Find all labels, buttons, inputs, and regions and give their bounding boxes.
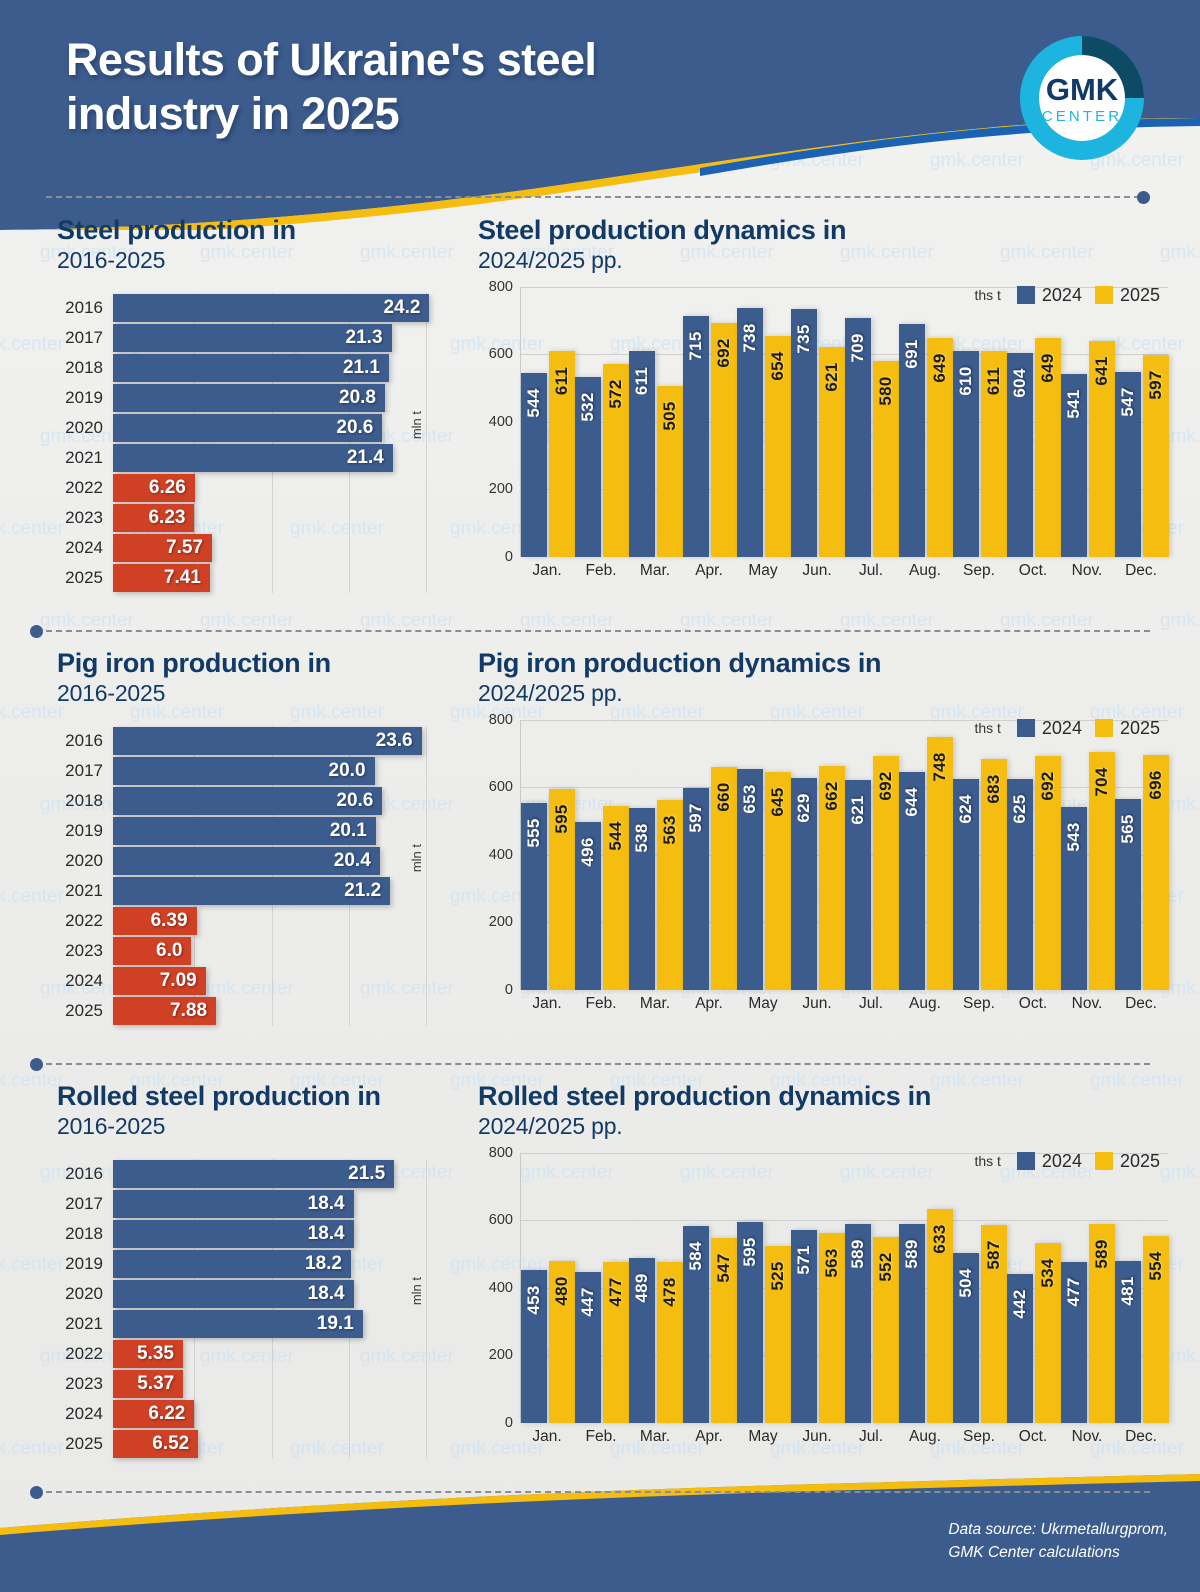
watermark-text: gmk.center — [0, 334, 64, 356]
bar-2025[interactable]: 704 — [1089, 752, 1115, 990]
hbar-row: 20226.39 — [57, 906, 447, 936]
hbar-track: 21.3 — [113, 323, 447, 353]
x-axis-tick: Jan. — [520, 562, 574, 580]
hbar-track: 7.41 — [113, 563, 447, 593]
hbar-year-label: 2018 — [57, 791, 113, 811]
bar-group-Oct: 604649 — [1007, 287, 1061, 557]
y-axis-tick: 600 — [479, 1212, 517, 1228]
y-axis-tick: 400 — [479, 1280, 517, 1296]
chart-legend: ths t20242025 — [974, 718, 1160, 739]
hbar-bar[interactable]: 21.5 — [113, 1160, 394, 1188]
bar-2025[interactable]: 552 — [873, 1237, 899, 1423]
hbar-year-label: 2020 — [57, 851, 113, 871]
y-axis-tick: 200 — [479, 481, 517, 497]
legend-label: 2024 — [1042, 285, 1082, 306]
bar-2024[interactable]: 541 — [1061, 374, 1087, 557]
x-axis-tick: May — [736, 562, 790, 580]
bar-2025[interactable]: 547 — [711, 1238, 737, 1423]
bar-2025[interactable]: 563 — [819, 1233, 845, 1423]
bar-2025[interactable]: 534 — [1035, 1243, 1061, 1423]
hbar-year-label: 2020 — [57, 418, 113, 438]
hbar-value-label: 21.4 — [347, 447, 384, 469]
hbar-row: 201818.4 — [57, 1219, 452, 1249]
bar-2024[interactable]: 597 — [683, 788, 709, 989]
hbar-bar[interactable]: 18.4 — [113, 1280, 354, 1308]
hbar-track: 18.2 — [113, 1249, 452, 1279]
hbar-year-label: 2016 — [57, 298, 113, 318]
hbar-year-label: 2025 — [57, 1001, 113, 1021]
bar-2024[interactable]: 544 — [521, 373, 547, 557]
x-axis-tick: Feb. — [574, 1428, 628, 1446]
bar-value-label: 447 — [578, 1287, 598, 1316]
hbar-bar[interactable]: 7.09 — [113, 967, 206, 995]
bar-group-Sep: 610611 — [953, 287, 1007, 557]
bar-groups: 4534804474774894785845475955255715635895… — [521, 1153, 1168, 1423]
bar-value-label: 496 — [578, 838, 598, 867]
hbar-bar[interactable]: 20.0 — [113, 757, 375, 785]
bar-2024[interactable]: 735 — [791, 309, 817, 557]
y-axis-tick: 800 — [479, 279, 517, 295]
bar-value-label: 477 — [606, 1277, 626, 1306]
hbar-bar[interactable]: 6.0 — [113, 937, 191, 965]
hbar-bar[interactable]: 20.1 — [113, 817, 376, 845]
bar-value-label: 478 — [660, 1277, 680, 1306]
bar-value-label: 547 — [1118, 388, 1138, 417]
bar-value-label: 625 — [1010, 794, 1030, 823]
hbar-track: 6.39 — [113, 906, 447, 936]
bar-value-label: 611 — [984, 366, 1004, 394]
bar-value-label: 504 — [956, 1268, 976, 1297]
hbar-row: 202020.4 — [57, 846, 447, 876]
hbar-value-label: 20.6 — [336, 790, 373, 812]
hbar-chart-pigiron: 201623.6201720.0201820.6201920.1202020.4… — [57, 726, 447, 1026]
hbar-row: 201721.3 — [57, 323, 447, 353]
plot-area: 0200400600800555595496544538563597660653… — [520, 720, 1168, 990]
bar-2025[interactable]: 654 — [765, 336, 791, 557]
hbar-row: 201918.2 — [57, 1249, 452, 1279]
legend-item-2025[interactable]: 2025 — [1095, 1151, 1160, 1172]
watermark-text: gmk.center — [0, 886, 64, 908]
bar-value-label: 610 — [956, 366, 976, 395]
bar-2024[interactable]: 691 — [899, 324, 925, 557]
legend-item-2024[interactable]: 2024 — [1017, 1151, 1082, 1172]
section-title: Steel production in — [57, 215, 447, 245]
hbar-value-label: 5.35 — [137, 1343, 174, 1365]
hbar-year-label: 2019 — [57, 1254, 113, 1274]
hbar-bar[interactable]: 18.4 — [113, 1190, 354, 1218]
bar-group-Mar: 611505 — [629, 287, 683, 557]
bar-value-label: 696 — [1146, 770, 1166, 799]
x-axis-tick: Jan. — [520, 995, 574, 1013]
bar-2024[interactable]: 555 — [521, 803, 547, 990]
y-axis-tick: 200 — [479, 914, 517, 930]
hbar-year-label: 2024 — [57, 1404, 113, 1424]
bar-group-Jul: 589552 — [845, 1153, 899, 1423]
bar-2025[interactable]: 563 — [657, 800, 683, 990]
bar-2024[interactable]: 589 — [845, 1224, 871, 1423]
legend-swatch — [1095, 286, 1113, 304]
x-axis-tick: Jul. — [844, 1428, 898, 1446]
bar-value-label: 662 — [822, 782, 842, 811]
bar-2025[interactable]: 611 — [549, 351, 575, 557]
x-axis-tick: Apr. — [682, 1428, 736, 1446]
x-axis-tick: Dec. — [1114, 995, 1168, 1013]
hbar-value-label: 20.0 — [329, 760, 366, 782]
divider-1 — [30, 625, 1150, 637]
bar-2025[interactable]: 589 — [1089, 1224, 1115, 1423]
bar-value-label: 735 — [794, 324, 814, 353]
hbar-year-label: 2023 — [57, 1374, 113, 1394]
hbar-year-label: 2021 — [57, 448, 113, 468]
y-axis: 0200400600800 — [479, 1153, 517, 1423]
hbar-track: 20.0 — [113, 756, 447, 786]
section-subtitle: 2024/2025 pp. — [478, 680, 1168, 708]
legend-unit-label: ths t — [974, 720, 1000, 736]
bar-group-Jul: 621692 — [845, 720, 899, 990]
hbar-bar[interactable]: 6.23 — [113, 504, 194, 532]
bar-value-label: 555 — [524, 818, 544, 847]
bar-2024[interactable]: 565 — [1115, 799, 1141, 990]
bar-2024[interactable]: 709 — [845, 318, 871, 557]
hbar-year-label: 2017 — [57, 1194, 113, 1214]
hbar-track: 20.8 — [113, 383, 447, 413]
legend-label: 2025 — [1120, 718, 1160, 739]
hbar-track: 21.5 — [113, 1159, 452, 1189]
hbar-row: 201718.4 — [57, 1189, 452, 1219]
hbar-bar[interactable]: 6.22 — [113, 1400, 194, 1428]
bar-value-label: 571 — [794, 1245, 814, 1274]
x-axis-tick: Apr. — [682, 995, 736, 1013]
bar-2025[interactable]: 692 — [711, 323, 737, 557]
bar-group-Nov: 477589 — [1061, 1153, 1115, 1423]
watermark-text: gmk.center — [1160, 610, 1200, 632]
section-steel-production: Steel production in 2016-2025 201624.220… — [57, 215, 447, 593]
hbar-value-label: 23.6 — [376, 730, 413, 752]
bar-2025[interactable]: 587 — [981, 1225, 1007, 1423]
hbar-value-label: 20.8 — [339, 387, 376, 409]
hbar-year-label: 2018 — [57, 358, 113, 378]
section-subtitle: 2016-2025 — [57, 247, 447, 275]
y-axis-tick: 400 — [479, 414, 517, 430]
bar-2024[interactable]: 532 — [575, 377, 601, 557]
legend-swatch — [1017, 719, 1035, 737]
bar-2025[interactable]: 597 — [1143, 355, 1169, 556]
bar-group-Dec: 565696 — [1115, 720, 1169, 990]
bar-group-Jul: 709580 — [845, 287, 899, 557]
x-axis-tick: Jul. — [844, 562, 898, 580]
hbar-row: 201624.2 — [57, 293, 447, 323]
bar-value-label: 683 — [984, 775, 1004, 804]
hbar-row: 202121.4 — [57, 443, 447, 473]
bar-value-label: 604 — [1010, 368, 1030, 397]
bar-group-Aug: 691649 — [899, 287, 953, 557]
bar-2025[interactable]: 580 — [873, 361, 899, 557]
column-chart-rolled: ths t20242025020040060080045348044747748… — [478, 1153, 1168, 1446]
hbar-bar[interactable]: 6.39 — [113, 907, 197, 935]
bar-2024[interactable]: 571 — [791, 1230, 817, 1423]
bar-value-label: 738 — [740, 323, 760, 352]
hbar-row: 201920.8 — [57, 383, 447, 413]
bar-value-label: 552 — [876, 1252, 896, 1281]
bar-value-label: 641 — [1092, 356, 1112, 385]
bar-2025[interactable]: 611 — [981, 351, 1007, 557]
hbar-track: 7.88 — [113, 996, 447, 1026]
bar-group-Jan: 544611 — [521, 287, 575, 557]
bar-2024[interactable]: 538 — [629, 808, 655, 990]
hbar-value-label: 5.37 — [137, 1373, 174, 1395]
hbar-bar[interactable]: 6.52 — [113, 1430, 198, 1458]
bar-value-label: 572 — [606, 379, 626, 408]
infographic-page: gmk.centergmk.centergmk.centergmk.center… — [0, 0, 1200, 1592]
bar-2024[interactable]: 453 — [521, 1270, 547, 1423]
bar-2024[interactable]: 481 — [1115, 1261, 1141, 1423]
hbar-bar[interactable]: 20.6 — [113, 414, 382, 442]
bar-value-label: 704 — [1092, 768, 1112, 797]
bar-2024[interactable]: 604 — [1007, 353, 1033, 557]
bar-2024[interactable]: 653 — [737, 769, 763, 989]
watermark-text: gmk.center — [0, 1070, 64, 1092]
x-axis: Jan.Feb.Mar.Apr.MayJun.Jul.Aug.Sep.Oct.N… — [520, 1428, 1168, 1446]
bar-2025[interactable]: 660 — [711, 767, 737, 990]
bar-2024[interactable]: 595 — [737, 1222, 763, 1423]
hbar-track: 19.1 — [113, 1309, 452, 1339]
hbar-row: 20236.23 — [57, 503, 447, 533]
hbar-row: 201621.5 — [57, 1159, 452, 1189]
bar-2025[interactable]: 692 — [873, 756, 899, 990]
hbar-row: 20225.35 — [57, 1339, 452, 1369]
bar-2024[interactable]: 442 — [1007, 1274, 1033, 1423]
bar-2025[interactable]: 478 — [657, 1262, 683, 1423]
bar-value-label: 611 — [552, 366, 572, 394]
bar-value-label: 589 — [902, 1239, 922, 1268]
hbar-value-label: 21.5 — [348, 1163, 385, 1185]
bar-2024[interactable]: 547 — [1115, 372, 1141, 557]
hbar-row: 201720.0 — [57, 756, 447, 786]
bar-group-May: 595525 — [737, 1153, 791, 1423]
hbar-value-label: 21.2 — [344, 880, 381, 902]
hbar-track: 6.52 — [113, 1429, 452, 1459]
bar-value-label: 554 — [1146, 1251, 1166, 1280]
bar-2024[interactable]: 738 — [737, 308, 763, 557]
bar-2025[interactable]: 525 — [765, 1246, 791, 1423]
hbar-bar[interactable]: 20.8 — [113, 384, 385, 412]
bar-groups: 5555954965445385635976606536456296626216… — [521, 720, 1168, 990]
hbar-track: 6.22 — [113, 1399, 452, 1429]
hbar-track: 21.2 — [113, 876, 447, 906]
hbar-value-label: 18.4 — [308, 1283, 345, 1305]
bar-2024[interactable]: 447 — [575, 1272, 601, 1423]
hbar-bar[interactable]: 19.1 — [113, 1310, 363, 1338]
hbar-bar[interactable]: 21.2 — [113, 877, 390, 905]
bar-2025[interactable]: 554 — [1143, 1236, 1169, 1423]
x-axis-tick: Aug. — [898, 995, 952, 1013]
bar-2025[interactable]: 645 — [765, 772, 791, 990]
x-axis-tick: Oct. — [1006, 562, 1060, 580]
hbar-year-label: 2024 — [57, 971, 113, 991]
bar-2024[interactable]: 715 — [683, 316, 709, 557]
hbar-value-label: 7.57 — [166, 537, 203, 559]
hbar-year-label: 2016 — [57, 731, 113, 751]
y-axis-tick: 0 — [479, 982, 517, 998]
bar-2024[interactable]: 625 — [1007, 779, 1033, 990]
bar-2024[interactable]: 610 — [953, 351, 979, 557]
watermark-text: gmk.center — [0, 1438, 64, 1460]
hbar-value-label: 19.1 — [317, 1313, 354, 1335]
y-axis-tick: 800 — [479, 712, 517, 728]
hbar-track: 6.0 — [113, 936, 447, 966]
hbar-bar[interactable]: 7.41 — [113, 564, 210, 592]
legend-item-2025[interactable]: 2025 — [1095, 285, 1160, 306]
bar-value-label: 691 — [902, 339, 922, 368]
bar-2025[interactable]: 480 — [549, 1261, 575, 1423]
bar-value-label: 489 — [632, 1273, 652, 1302]
hbar-bar[interactable]: 21.1 — [113, 354, 389, 382]
bar-2024[interactable]: 621 — [845, 780, 871, 990]
bar-2025[interactable]: 649 — [927, 338, 953, 557]
legend-label: 2025 — [1120, 1151, 1160, 1172]
legend-unit-label: ths t — [974, 1153, 1000, 1169]
section-subtitle: 2016-2025 — [57, 680, 447, 708]
hbar-bar[interactable]: 24.2 — [113, 294, 429, 322]
bar-2024[interactable]: 629 — [791, 778, 817, 990]
hbar-row: 20226.26 — [57, 473, 447, 503]
bar-2025[interactable]: 544 — [603, 806, 629, 990]
hbar-bar[interactable]: 20.4 — [113, 847, 380, 875]
hbar-year-label: 2020 — [57, 1284, 113, 1304]
legend-item-2024[interactable]: 2024 — [1017, 285, 1082, 306]
divider-top — [30, 191, 1150, 203]
bar-group-Aug: 644748 — [899, 720, 953, 990]
hbar-value-label: 24.2 — [383, 297, 420, 319]
bar-2024[interactable]: 644 — [899, 772, 925, 989]
bar-value-label: 653 — [740, 785, 760, 814]
section-rolled-dynamics: Rolled steel production dynamics in 2024… — [478, 1081, 1168, 1446]
bar-value-label: 645 — [768, 788, 788, 817]
bar-2025[interactable]: 477 — [603, 1262, 629, 1423]
bar-2025[interactable]: 649 — [1035, 338, 1061, 557]
hbar-bar[interactable]: 7.88 — [113, 997, 216, 1025]
legend-swatch — [1017, 1152, 1035, 1170]
hbar-row: 201821.1 — [57, 353, 447, 383]
bar-2025[interactable]: 662 — [819, 766, 845, 989]
bar-value-label: 589 — [1092, 1239, 1112, 1268]
hbar-value-label: 7.41 — [164, 567, 201, 589]
bar-2024[interactable]: 504 — [953, 1253, 979, 1423]
bar-value-label: 525 — [768, 1261, 788, 1290]
legend-swatch — [1095, 1152, 1113, 1170]
bar-2025[interactable]: 692 — [1035, 756, 1061, 990]
bar-value-label: 589 — [848, 1239, 868, 1268]
bar-group-Nov: 543704 — [1061, 720, 1115, 990]
bar-value-label: 547 — [714, 1254, 734, 1283]
watermark-text: gmk.center — [0, 518, 64, 540]
hbar-track: 18.4 — [113, 1219, 452, 1249]
bar-2025[interactable]: 595 — [549, 789, 575, 990]
bar-2025[interactable]: 621 — [819, 347, 845, 557]
legend-swatch — [1095, 719, 1113, 737]
bar-value-label: 649 — [1038, 353, 1058, 382]
x-axis-tick: Jun. — [790, 1428, 844, 1446]
bar-group-Apr: 584547 — [683, 1153, 737, 1423]
hbar-bar[interactable]: 18.2 — [113, 1250, 351, 1278]
bar-group-Sep: 624683 — [953, 720, 1007, 990]
bar-2024[interactable]: 611 — [629, 351, 655, 557]
hbar-year-label: 2024 — [57, 538, 113, 558]
section-title: Rolled steel production dynamics in — [478, 1081, 1168, 1111]
hbar-row: 20247.09 — [57, 966, 447, 996]
hbar-value-label: 21.3 — [346, 327, 383, 349]
bar-2024[interactable]: 489 — [629, 1258, 655, 1423]
y-axis-tick: 0 — [479, 1415, 517, 1431]
bar-group-Jan: 555595 — [521, 720, 575, 990]
hbar-track: 23.6 — [113, 726, 447, 756]
x-axis-tick: Sep. — [952, 562, 1006, 580]
bar-group-Sep: 504587 — [953, 1153, 1007, 1423]
hbar-bar[interactable]: 5.35 — [113, 1340, 183, 1368]
x-axis-tick: May — [736, 995, 790, 1013]
hbar-bar[interactable]: 21.4 — [113, 444, 393, 472]
hbar-track: 20.4 — [113, 846, 447, 876]
bar-value-label: 595 — [552, 804, 572, 833]
hbar-chart-rolled: 201621.5201718.4201818.4201918.2202018.4… — [57, 1159, 452, 1459]
section-subtitle: 2024/2025 pp. — [478, 1113, 1168, 1141]
hbar-year-label: 2017 — [57, 761, 113, 781]
bar-2025[interactable]: 683 — [981, 759, 1007, 990]
legend-unit-label: ths t — [974, 287, 1000, 303]
hbar-track: 6.23 — [113, 503, 447, 533]
x-axis-tick: Mar. — [628, 1428, 682, 1446]
bar-value-label: 621 — [848, 796, 868, 825]
bar-2024[interactable]: 624 — [953, 779, 979, 990]
y-axis: 0200400600800 — [479, 720, 517, 990]
hbar-row: 20256.52 — [57, 1429, 452, 1459]
hbar-bar[interactable]: 7.57 — [113, 534, 212, 562]
chart-legend: ths t20242025 — [974, 1151, 1160, 1172]
hbar-value-label: 18.2 — [305, 1253, 342, 1275]
hbar-bar[interactable]: 20.6 — [113, 787, 382, 815]
hbar-bar[interactable]: 18.4 — [113, 1220, 354, 1248]
legend-item-2024[interactable]: 2024 — [1017, 718, 1082, 739]
x-axis-tick: Jan. — [520, 1428, 574, 1446]
bar-2024[interactable]: 496 — [575, 822, 601, 989]
hbar-bar[interactable]: 5.37 — [113, 1370, 183, 1398]
bar-group-Aug: 589633 — [899, 1153, 953, 1423]
bar-value-label: 624 — [956, 795, 976, 824]
page-title: Results of Ukraine's steel industry in 2… — [66, 33, 596, 142]
hbar-bar[interactable]: 6.26 — [113, 474, 195, 502]
bar-2025[interactable]: 572 — [603, 364, 629, 557]
hbar-track: 5.37 — [113, 1369, 452, 1399]
legend-item-2025[interactable]: 2025 — [1095, 718, 1160, 739]
bar-2025[interactable]: 748 — [927, 737, 953, 989]
hbar-bar[interactable]: 23.6 — [113, 727, 422, 755]
hbar-year-label: 2023 — [57, 941, 113, 961]
bar-2025[interactable]: 633 — [927, 1209, 953, 1423]
bar-2025[interactable]: 641 — [1089, 341, 1115, 557]
bar-2024[interactable]: 589 — [899, 1224, 925, 1423]
bar-2024[interactable]: 477 — [1061, 1262, 1087, 1423]
hbar-year-label: 2019 — [57, 388, 113, 408]
bar-2025[interactable]: 696 — [1143, 755, 1169, 990]
bar-value-label: 692 — [876, 772, 896, 801]
hbar-bar[interactable]: 21.3 — [113, 324, 392, 352]
x-axis-tick: Jun. — [790, 562, 844, 580]
bar-2024[interactable]: 543 — [1061, 807, 1087, 990]
bar-2024[interactable]: 584 — [683, 1226, 709, 1423]
bar-value-label: 692 — [1038, 772, 1058, 801]
bar-2025[interactable]: 505 — [657, 386, 683, 556]
hbar-value-label: 20.6 — [336, 417, 373, 439]
